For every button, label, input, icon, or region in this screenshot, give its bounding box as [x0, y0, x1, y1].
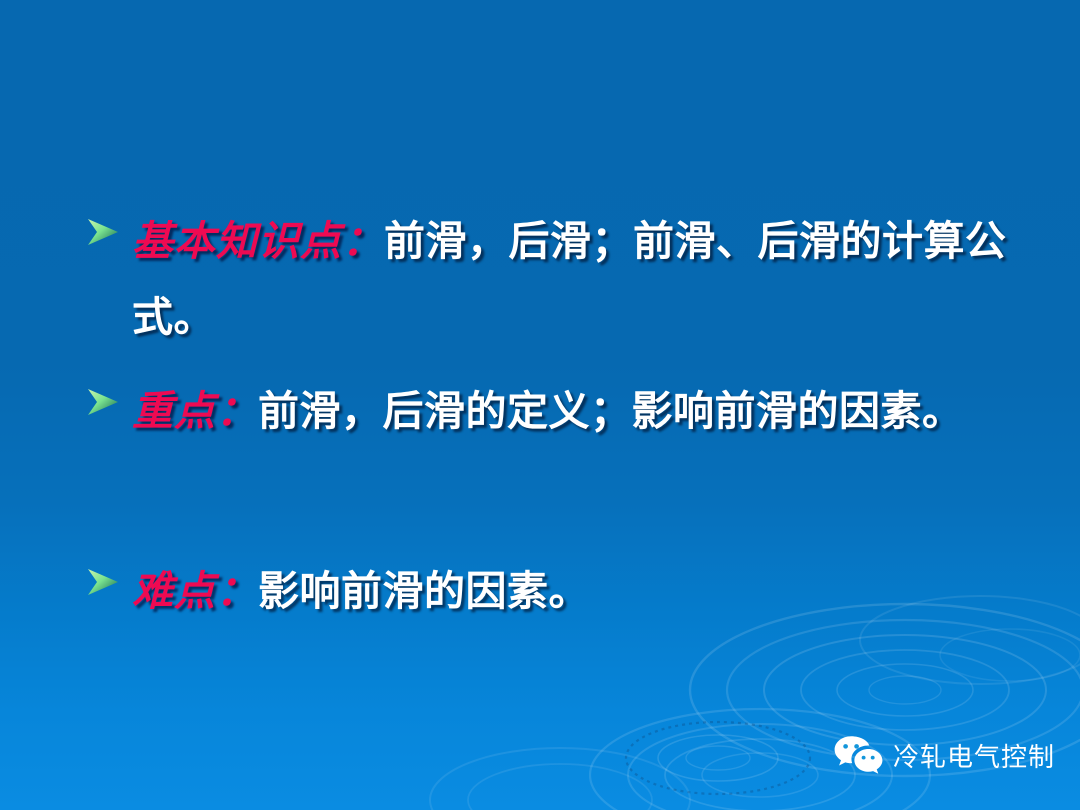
bullet-text: 难点：影响前滑的因素。 [86, 553, 1026, 629]
bullet-item: 基本知识点：前滑，后滑；前滑、后滑的计算公式。 [86, 203, 1026, 355]
arrowhead-bullet-icon [86, 567, 120, 597]
wechat-watermark: 冷轧电气控制 [833, 733, 1055, 777]
bullet-body: 前滑，后滑的定义；影响前滑的因素。 [258, 387, 964, 435]
wechat-icon [833, 733, 883, 777]
bullet-keyword: 基本知识点 [132, 217, 342, 265]
bullet-item: 难点：影响前滑的因素。 [86, 553, 1026, 629]
watermark-label: 冷轧电气控制 [893, 737, 1055, 774]
bullet-text: 基本知识点：前滑，后滑；前滑、后滑的计算公式。 [86, 203, 1026, 355]
bullet-separator: ： [342, 217, 384, 265]
bullet-separator: ： [216, 387, 258, 435]
bullet-body: 影响前滑的因素。 [258, 567, 590, 615]
bullet-keyword: 重点 [132, 387, 216, 435]
arrowhead-bullet-icon [86, 387, 120, 417]
slide-body: 基本知识点：前滑，后滑；前滑、后滑的计算公式。 重点：前滑，后滑的定义；影响前滑… [0, 0, 1080, 810]
bullet-text: 重点：前滑，后滑的定义；影响前滑的因素。 [86, 373, 1026, 449]
presentation-slide: 基本知识点：前滑，后滑；前滑、后滑的计算公式。 重点：前滑，后滑的定义；影响前滑… [0, 0, 1080, 810]
bullet-keyword: 难点 [132, 567, 216, 615]
bullet-separator: ： [216, 567, 258, 615]
bullet-item: 重点：前滑，后滑的定义；影响前滑的因素。 [86, 373, 1026, 449]
arrowhead-bullet-icon [86, 217, 120, 247]
